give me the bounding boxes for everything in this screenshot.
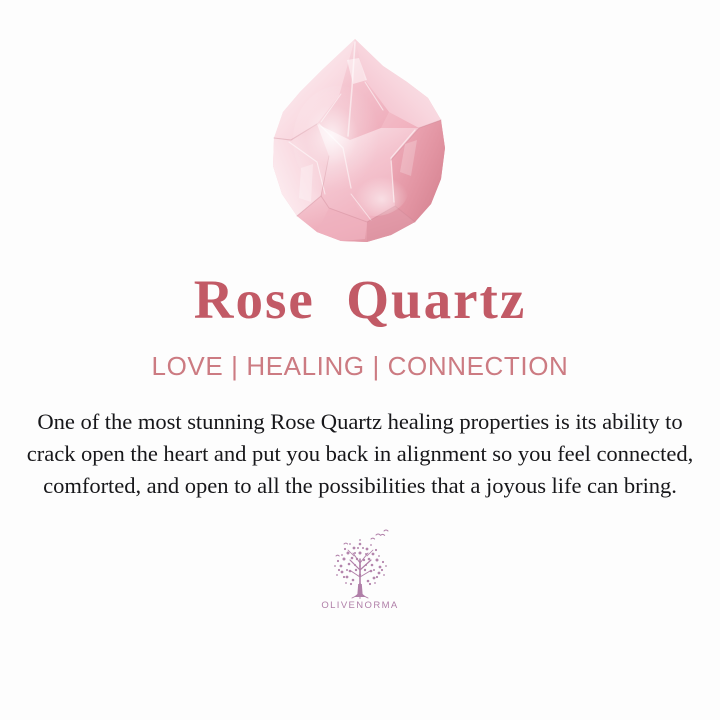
tree-roots (352, 595, 368, 599)
crystal-illustration (255, 36, 465, 261)
crystal-highlight-left (299, 164, 313, 202)
description-paragraph: One of the most stunning Rose Quartz hea… (26, 406, 694, 502)
keywords-subtitle: LOVE | HEALING | CONNECTION (152, 353, 569, 379)
crystal-highlight-lower (341, 160, 409, 216)
page-title: Rose Quartz (194, 272, 527, 327)
hero-image-area (0, 0, 720, 272)
tree-of-life-icon (314, 526, 406, 600)
product-info-card: Rose Quartz LOVE | HEALING | CONNECTION … (0, 0, 720, 720)
brand-logo: OLIVENORMA (314, 526, 406, 611)
brand-wordmark: OLIVENORMA (321, 601, 398, 611)
rose-quartz-crystal-image (255, 36, 465, 261)
tree-branches (348, 550, 373, 588)
tree-birds (336, 530, 388, 556)
